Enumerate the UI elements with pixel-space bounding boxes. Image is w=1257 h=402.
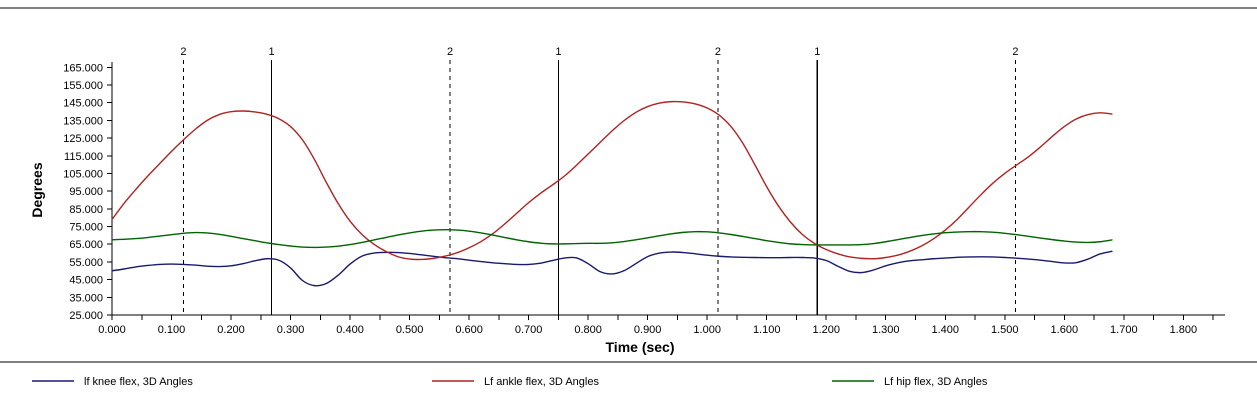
- x-axis-title: Time (sec): [606, 339, 675, 355]
- x-tick-label: 1.200: [812, 324, 840, 336]
- y-tick-label: 115.000: [64, 151, 103, 163]
- event-marker-label: 1: [268, 46, 274, 58]
- legend-label-0: lf knee flex, 3D Angles: [84, 376, 193, 388]
- x-tick-label: 1.400: [931, 324, 959, 336]
- x-tick-label: 1.800: [1170, 324, 1198, 336]
- y-tick-label: 55.000: [69, 257, 103, 269]
- y-tick-label: 65.000: [69, 239, 103, 251]
- line-chart: 25.00035.00045.00055.00065.00075.00085.0…: [0, 0, 1257, 402]
- y-tick-label: 45.000: [69, 275, 103, 287]
- event-marker-label: 2: [1012, 46, 1018, 58]
- x-tick-label: 1.100: [753, 324, 781, 336]
- x-tick-label: 0.400: [336, 324, 364, 336]
- x-tick-label: 0.100: [158, 324, 186, 336]
- x-tick-label: 0.900: [634, 324, 662, 336]
- event-marker-label: 2: [715, 46, 721, 58]
- event-marker-label: 2: [180, 46, 186, 58]
- x-tick-label: 0.500: [396, 324, 424, 336]
- x-tick-label: 0.000: [98, 324, 126, 336]
- y-tick-label: 75.000: [69, 222, 103, 234]
- legend-label-1: Lf ankle flex, 3D Angles: [484, 376, 599, 388]
- y-tick-label: 35.000: [69, 292, 103, 304]
- y-axis-title: Degrees: [29, 162, 45, 217]
- event-marker-label: 1: [555, 46, 561, 58]
- x-tick-label: 0.200: [217, 324, 245, 336]
- chart-container: 25.00035.00045.00055.00065.00075.00085.0…: [0, 0, 1257, 402]
- y-tick-label: 25.000: [69, 310, 103, 322]
- event-marker-label: 2: [447, 46, 453, 58]
- x-tick-label: 0.600: [455, 324, 483, 336]
- y-tick-label: 135.000: [63, 115, 103, 127]
- y-tick-label: 125.000: [63, 133, 103, 145]
- x-tick-label: 1.000: [693, 324, 721, 336]
- y-tick-label: 85.000: [69, 204, 103, 216]
- x-tick-label: 1.600: [1051, 324, 1079, 336]
- x-tick-label: 1.500: [991, 324, 1019, 336]
- x-tick-label: 0.300: [277, 324, 305, 336]
- y-tick-label: 105.000: [63, 168, 103, 180]
- legend-label-2: Lf hip flex, 3D Angles: [884, 376, 988, 388]
- x-tick-label: 1.300: [872, 324, 900, 336]
- x-tick-label: 0.800: [574, 324, 602, 336]
- y-tick-label: 145.000: [63, 98, 103, 110]
- y-tick-label: 165.000: [63, 62, 103, 74]
- y-tick-label: 95.000: [69, 186, 103, 198]
- event-marker-label: 1: [814, 46, 820, 58]
- y-tick-label: 155.000: [63, 80, 103, 92]
- x-tick-label: 1.700: [1110, 324, 1138, 336]
- x-tick-label: 0.700: [515, 324, 543, 336]
